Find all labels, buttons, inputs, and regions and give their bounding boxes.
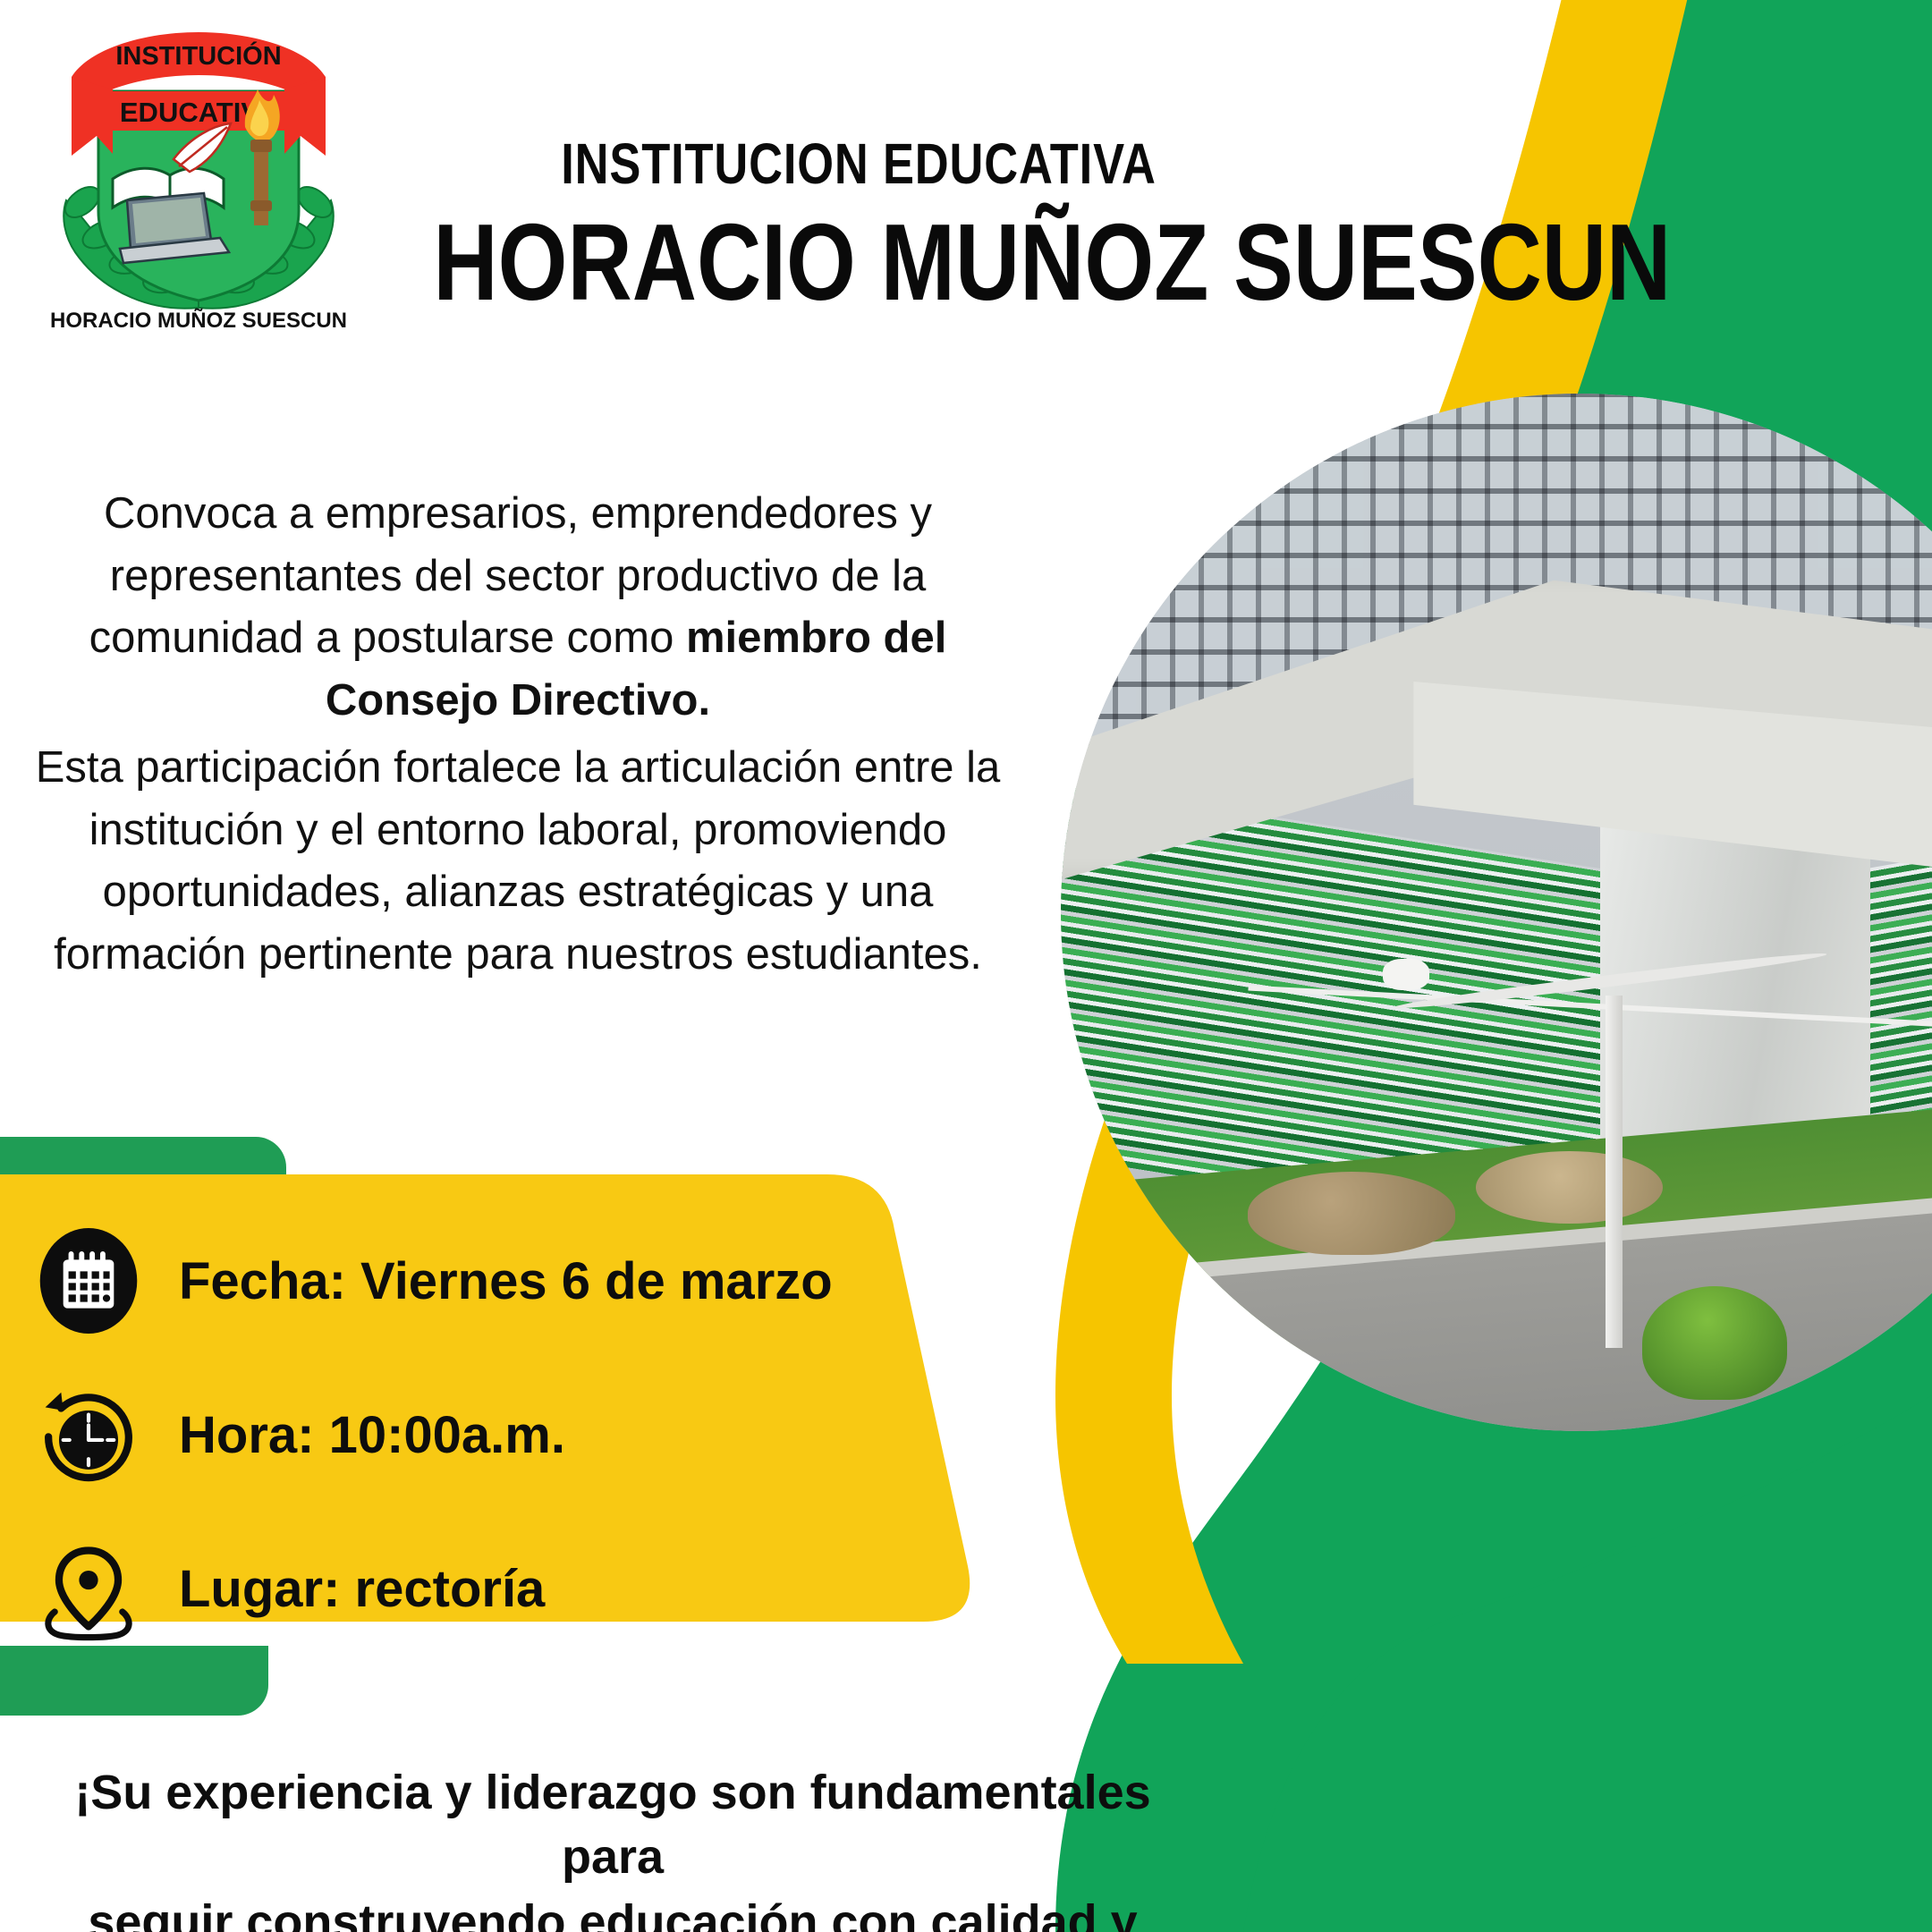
crest-ribbon-top-text: INSTITUCIÓN bbox=[115, 40, 281, 71]
info-row-date-label: Fecha: Viernes 6 de marzo bbox=[179, 1251, 833, 1311]
page-title: HORACIO MUÑOZ SUESCUN bbox=[433, 207, 1284, 318]
body-paragraph-1: Convoca a empresarios, emprendedores y r… bbox=[21, 483, 1014, 732]
calendar-icon bbox=[36, 1228, 141, 1334]
info-row-time-label: Hora: 10:00a.m. bbox=[179, 1405, 565, 1465]
info-row-date[interactable]: Fecha: Viernes 6 de marzo bbox=[36, 1228, 833, 1334]
info-rows: Fecha: Viernes 6 de marzo Hora: 10:00a.m… bbox=[0, 1174, 1002, 1653]
poster-canvas: INSTITUCIÓN EDUCATIVA HORACIO MUÑOZ bbox=[0, 0, 1932, 1932]
footer-line-2: seguir construyendo educación con calida… bbox=[36, 1890, 1190, 1932]
info-row-place[interactable]: Lugar: rectoría bbox=[36, 1536, 545, 1641]
info-row-time[interactable]: Hora: 10:00a.m. bbox=[36, 1382, 565, 1487]
footer-message: ¡Su experiencia y liderazgo son fundamen… bbox=[36, 1760, 1190, 1932]
green-tab-bottom bbox=[0, 1646, 268, 1716]
crest-wreath-text: HORACIO MUÑOZ SUESCUN bbox=[50, 308, 347, 333]
header-kicker: INSTITUCION EDUCATIVA bbox=[433, 134, 1284, 194]
clock-icon bbox=[36, 1382, 141, 1487]
info-row-place-label: Lugar: rectoría bbox=[179, 1559, 545, 1619]
body-copy: Convoca a empresarios, emprendedores y r… bbox=[21, 483, 1014, 987]
header-block: INSTITUCION EDUCATIVA HORACIO MUÑOZ SUES… bbox=[340, 134, 1377, 318]
school-building-photo bbox=[1061, 394, 1932, 1431]
footer-line-1: ¡Su experiencia y liderazgo son fundamen… bbox=[36, 1760, 1190, 1890]
location-pin-icon bbox=[36, 1536, 141, 1641]
school-crest-logo: INSTITUCIÓN EDUCATIVA HORACIO MUÑOZ bbox=[20, 13, 377, 370]
body-paragraph-2: Esta participación fortalece la articula… bbox=[21, 737, 1014, 986]
